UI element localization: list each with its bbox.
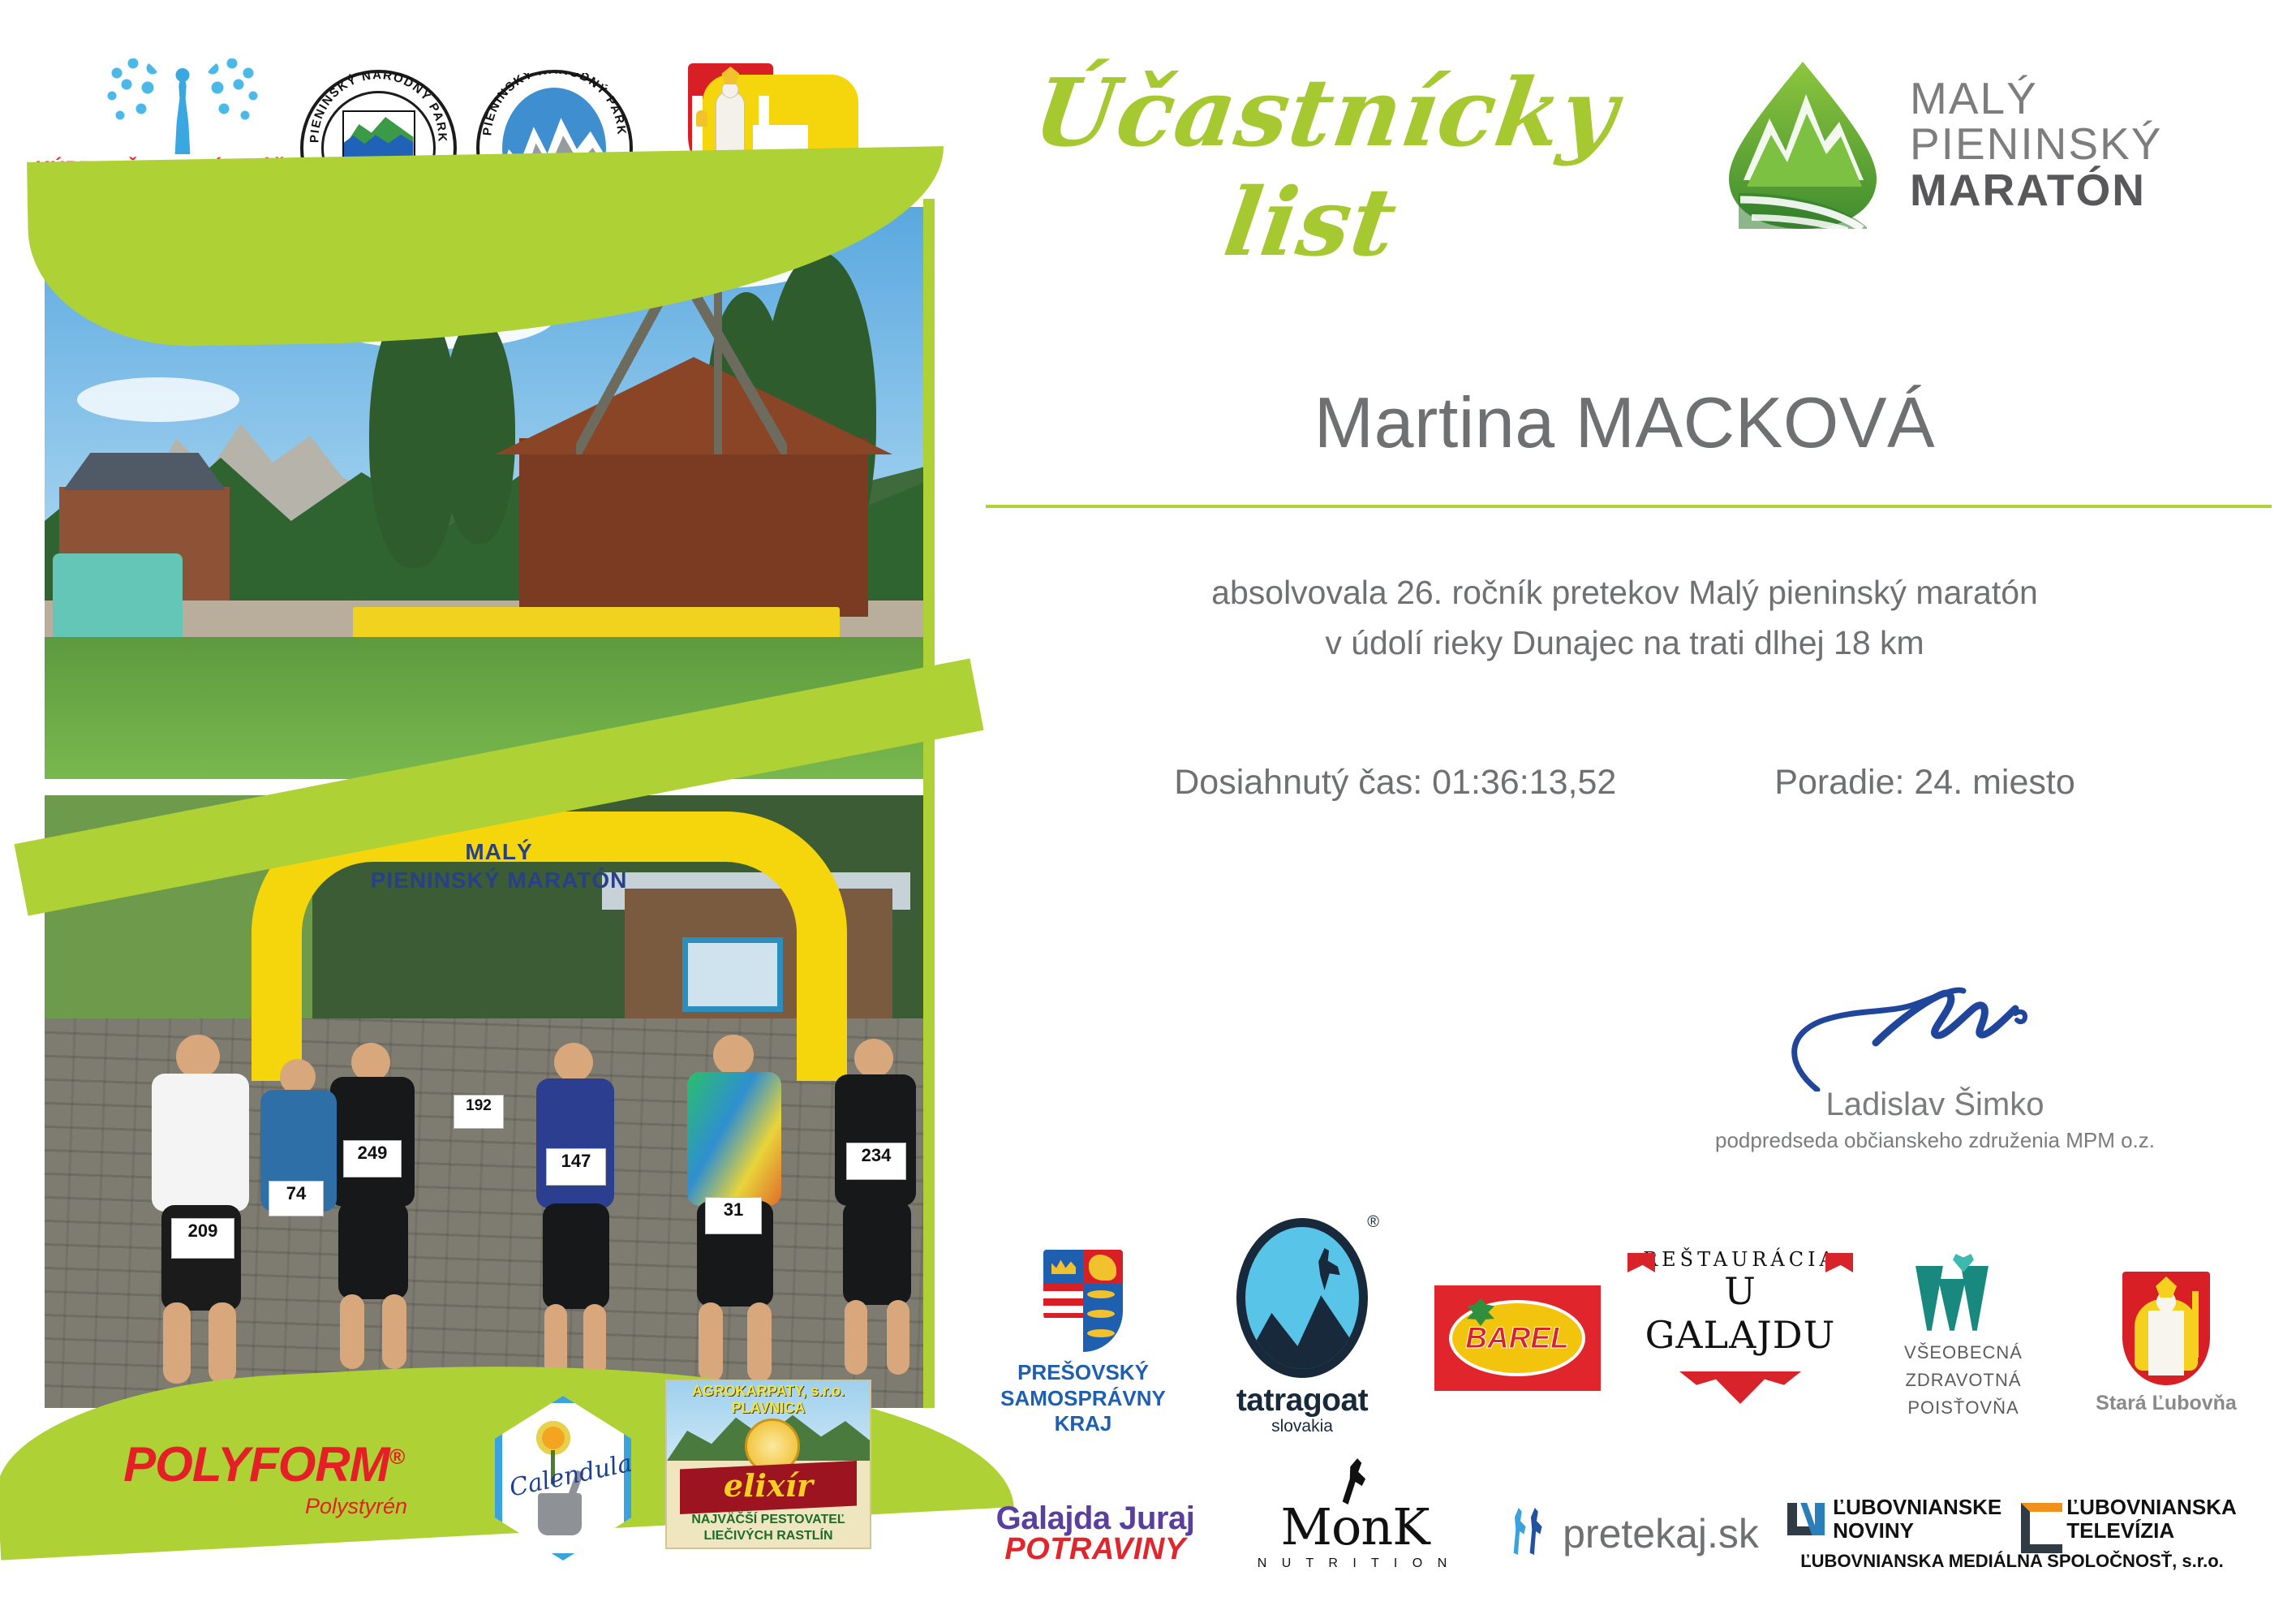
photo-race-start: MALÝ PIENINSKÝ MARATÓN 209 249 74 [45,795,925,1408]
svg-text:PIENINSKÝ NÁRODNÝ PARK: PIENINSKÝ NÁRODNÝ PARK [480,73,628,136]
stara-lubovna-caption: Stará Ľubovňa [2096,1392,2237,1415]
result-time: Dosiahnutý čas: 01:36:13,52 [1174,763,1616,803]
green-edge-stripe [923,199,935,1408]
galajdu-top-word: REŠTAURÁCIA [1643,1248,1838,1271]
polyform-subtitle: Polystyrén [105,1494,422,1519]
vzp-chevron-icon [1915,1256,2011,1331]
brand-line-3: MARATÓN [1910,167,2162,213]
result-place: Poradie: 24. miesto [1774,763,2075,803]
document-title: Účastnícky list [938,58,1699,278]
spa-figure-icon [97,57,268,154]
tatragoat-wordmark: tatragoat [1236,1383,1368,1419]
logo-lubovnianske-noviny: ĽUBOVNIANSKE NOVINY [1787,1496,2001,1542]
recipient-name: Martina MACKOVÁ [982,381,2268,464]
polyform-wordmark: POLYFORM® [105,1436,422,1492]
tatragoat-subtitle: slovakia [1271,1417,1333,1436]
runner: 234 [815,1039,925,1375]
logo-calendula: Calendula [495,1396,649,1561]
agrokarpaty-title: AGROKARPATY, s.r.o. PLAVNICA [667,1383,870,1417]
runner: 74 [247,1059,353,1359]
logo-agrokarpaty: AGROKARPATY, s.r.o. PLAVNICA elixír NAJV… [665,1380,872,1549]
award-line-1: absolvovala 26. ročník pretekov Malý pie… [982,568,2268,618]
handwritten-signature-icon [1615,986,2255,1091]
galajdu-main-word: U GALAJDU [1623,1269,1858,1357]
logo-pretekaj-sk: pretekaj.sk [1501,1508,1769,1560]
leaf-mountain-icon [1724,57,1882,231]
runner: 31 [669,1035,803,1384]
name-divider-rule [986,505,2272,508]
logo-stara-lubovna: Stará Ľubovňa [2069,1272,2264,1415]
agrokarpaty-footer: NAJVÄČŠÍ PESTOVATEĽ LIEČIVÝCH RASTLÍN [667,1512,870,1544]
psk-coat-of-arms-icon [1043,1250,1123,1352]
registered-mark-icon: ® [1367,1213,1379,1232]
runner: 192 [442,1067,531,1311]
logo-lubovnianska-medialna: ĽUBOVNIANSKE NOVINY ĽUBOVNIANSKA TELEVÍZ… [1769,1496,2255,1571]
ln-caption: ĽUBOVNIANSKE NOVINY [1833,1496,2001,1542]
runner: 147 [515,1043,637,1375]
vzp-caption: VŠEOBECNÁ ZDRAVOTNÁ POISŤOVŇA [1904,1339,2023,1422]
signer-name: Ladislav Šimko [1615,1087,2255,1123]
monk-subtitle: N U T R I T I O N [1258,1556,1453,1571]
brand-line-2: PIENINSKÝ [1910,121,2162,166]
logo-vseobecna-zdravotna-poistovna: VŠEOBECNÁ ZDRAVOTNÁ POISŤOVŇA [1858,1256,2069,1422]
signer-role: podpredseda občianskeho združenia MPM o.… [1615,1128,2255,1153]
pretekaj-wordmark: pretekaj.sk [1563,1510,1759,1557]
logo-monk-nutrition: MonK N U T R I T I O N [1233,1497,1477,1571]
logo-barel: BAREL [1412,1285,1623,1391]
folk-ornament-icon-2 [1679,1371,1801,1404]
lt-square-icon [2021,1500,2060,1539]
tatragoat-mountain-goat-icon [1236,1218,1368,1378]
logo-tatragoat: ® tatragoat slovakia [1193,1218,1412,1436]
logo-polyform: POLYFORM® Polystyrén [105,1436,422,1519]
ln-monogram-icon [1787,1500,1826,1539]
result-row: Dosiahnutý čas: 01:36:13,52 Poradie: 24.… [982,763,2268,803]
monk-wordmark: MonK [1280,1497,1429,1556]
psk-caption: PREŠOVSKÝ SAMOSPRÁVNY KRAJ [1000,1360,1166,1436]
signature-block: Ladislav Šimko podpredseda občianskeho z… [1615,986,2255,1153]
photo-collage: MALÝ PIENINSKÝ MARATÓN 209 249 74 [45,154,925,1408]
award-line-2: v údolí rieky Dunajec na trati dlhej 18 … [982,618,2268,669]
lms-company-line: ĽUBOVNIANSKA MEDIÁLNA SPOLOČNOSŤ, s.r.o. [1800,1551,2224,1572]
logo-presovsky-samospravny-kraj: PREŠOVSKÝ SAMOSPRÁVNY KRAJ [974,1250,1193,1436]
logo-lubovnianska-televizia: ĽUBOVNIANSKA TELEVÍZIA [2021,1496,2236,1542]
lt-caption: ĽUBOVNIANSKA TELEVÍZIA [2066,1496,2236,1542]
award-description: absolvovala 26. ročník pretekov Malý pie… [982,568,2268,668]
two-runners-icon [1511,1508,1554,1560]
barel-wordmark: BAREL [1465,1321,1568,1355]
logo-restauracia-u-galajdu: REŠTAURÁCIA U GALAJDU [1623,1248,1858,1404]
brand-line-1: MALÝ [1910,75,2162,121]
agrokarpaty-brand: elixír [680,1467,857,1504]
logo-galajda-juraj: Galajda Juraj POTRAVINY [974,1500,1217,1567]
stara-lubovna-coat-of-arms-icon [2122,1272,2210,1385]
calendula-hex-icon: Calendula [495,1396,631,1561]
galajda-juraj-sub: POTRAVINY [1004,1532,1185,1567]
sponsor-grid: PREŠOVSKÝ SAMOSPRÁVNY KRAJ ® tatragoat s… [974,1233,2272,1615]
event-brand-logo: MALÝ PIENINSKÝ MARATÓN [1724,57,2259,231]
